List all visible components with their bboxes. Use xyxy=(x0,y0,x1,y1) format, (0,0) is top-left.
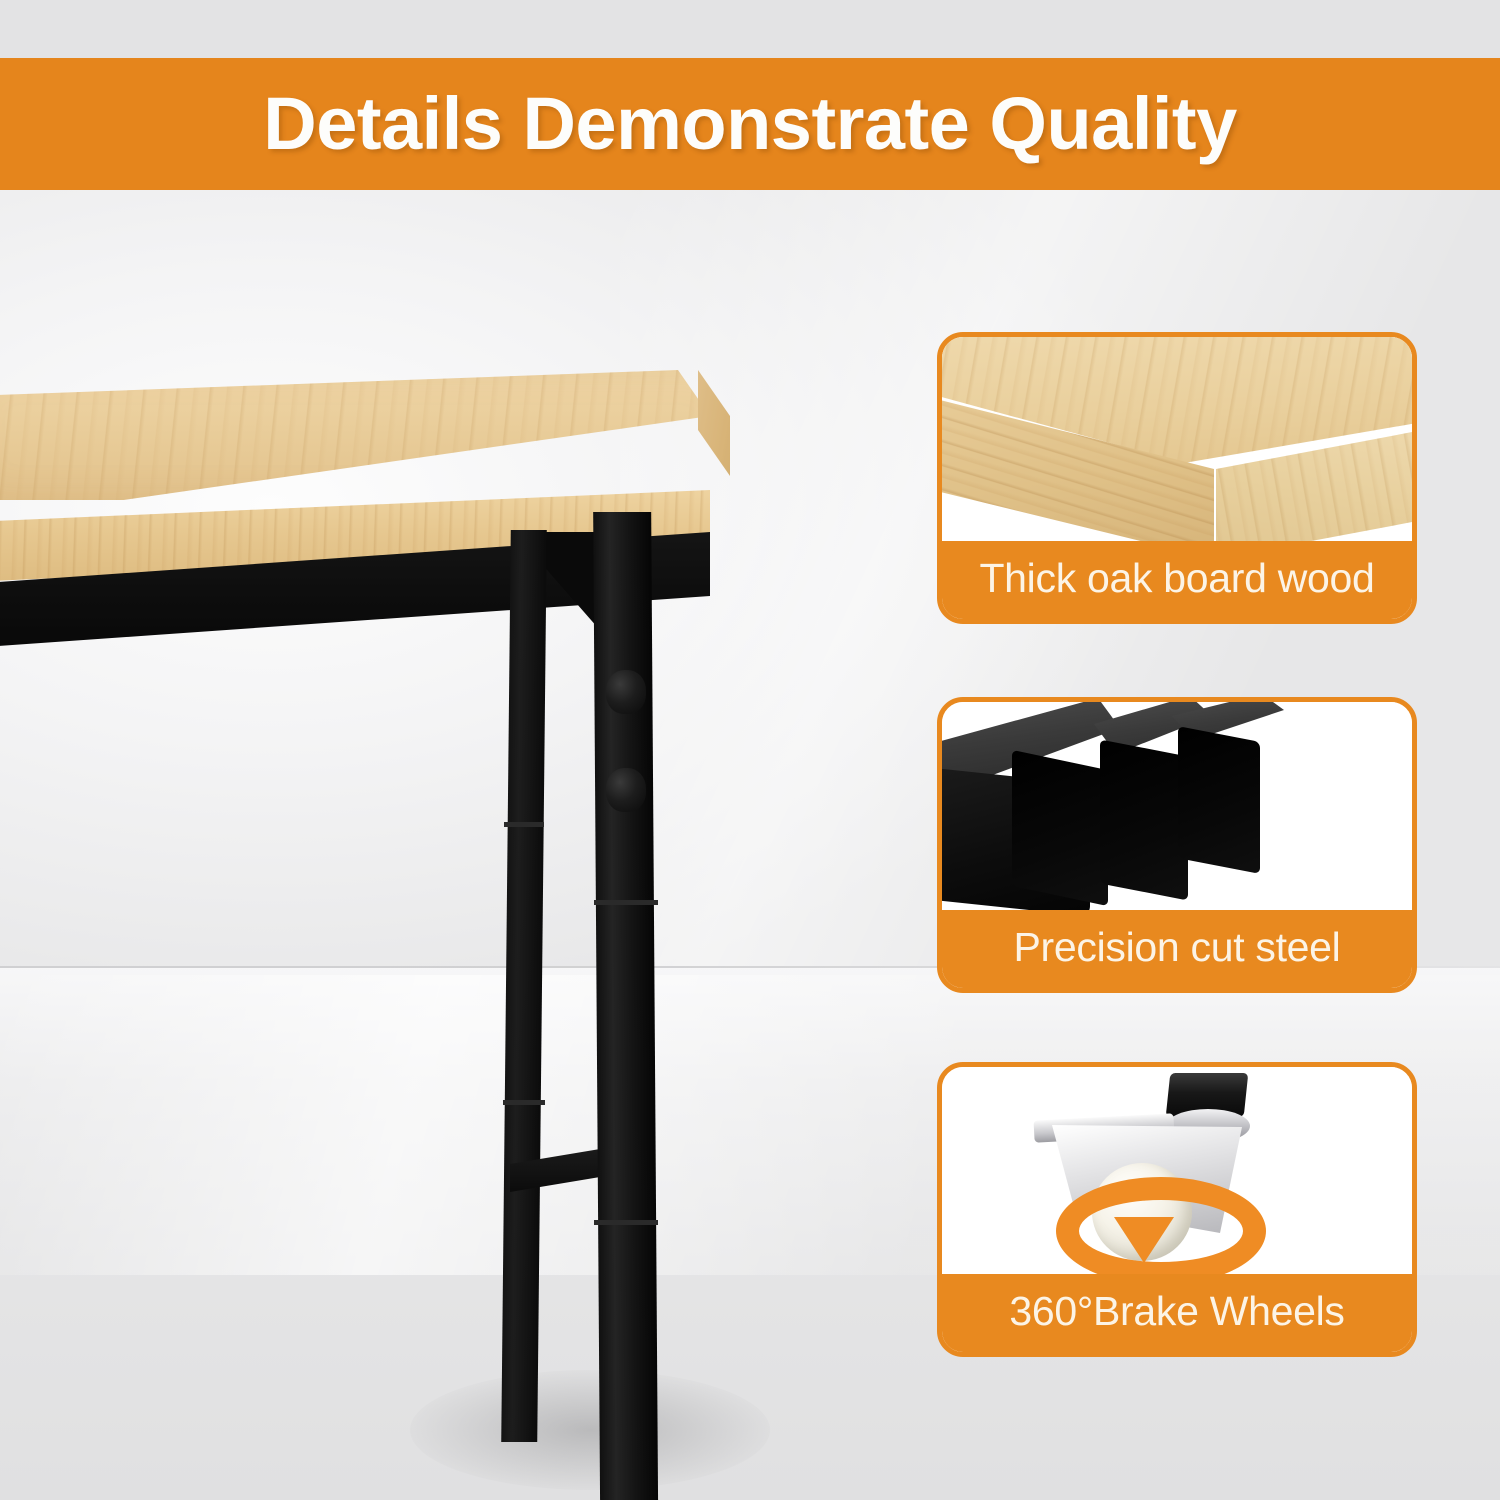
front-leg xyxy=(593,512,659,1500)
steel-tube-3-end xyxy=(1178,726,1260,874)
feature-card-steel-label: Precision cut steel xyxy=(942,910,1412,988)
rear-leg-seam xyxy=(504,822,544,827)
header-banner: Details Demonstrate Quality xyxy=(0,58,1500,190)
worktop-grain xyxy=(0,370,730,500)
front-leg-seam-lower xyxy=(594,1220,658,1225)
rear-leg xyxy=(501,530,547,1442)
height-adjust-knob-lower xyxy=(606,768,646,812)
steel-tube-3 xyxy=(1172,702,1284,892)
product-detail-image: Details Demonstrate Quality xyxy=(0,0,1500,1500)
feature-card-oak-label: Thick oak board wood xyxy=(942,541,1412,619)
rear-leg-seam-lower xyxy=(503,1100,545,1105)
front-leg-seam xyxy=(594,900,658,905)
feature-card-steel[interactable]: Precision cut steel xyxy=(937,697,1417,993)
caster-wheel-icon xyxy=(942,1067,1412,1274)
banner-title: Details Demonstrate Quality xyxy=(263,87,1236,161)
feature-card-wheels[interactable]: 360°Brake Wheels xyxy=(937,1062,1417,1357)
rotation-arrow-head xyxy=(1114,1217,1174,1263)
feature-card-oak[interactable]: Thick oak board wood xyxy=(937,332,1417,624)
height-adjust-knob-upper xyxy=(606,670,646,714)
steel-tubes-icon xyxy=(942,702,1412,910)
workbench-photo xyxy=(0,340,750,1460)
oak-board-corner-icon xyxy=(942,337,1412,541)
floor-shadow xyxy=(410,1370,770,1490)
feature-card-wheels-label: 360°Brake Wheels xyxy=(942,1274,1412,1352)
